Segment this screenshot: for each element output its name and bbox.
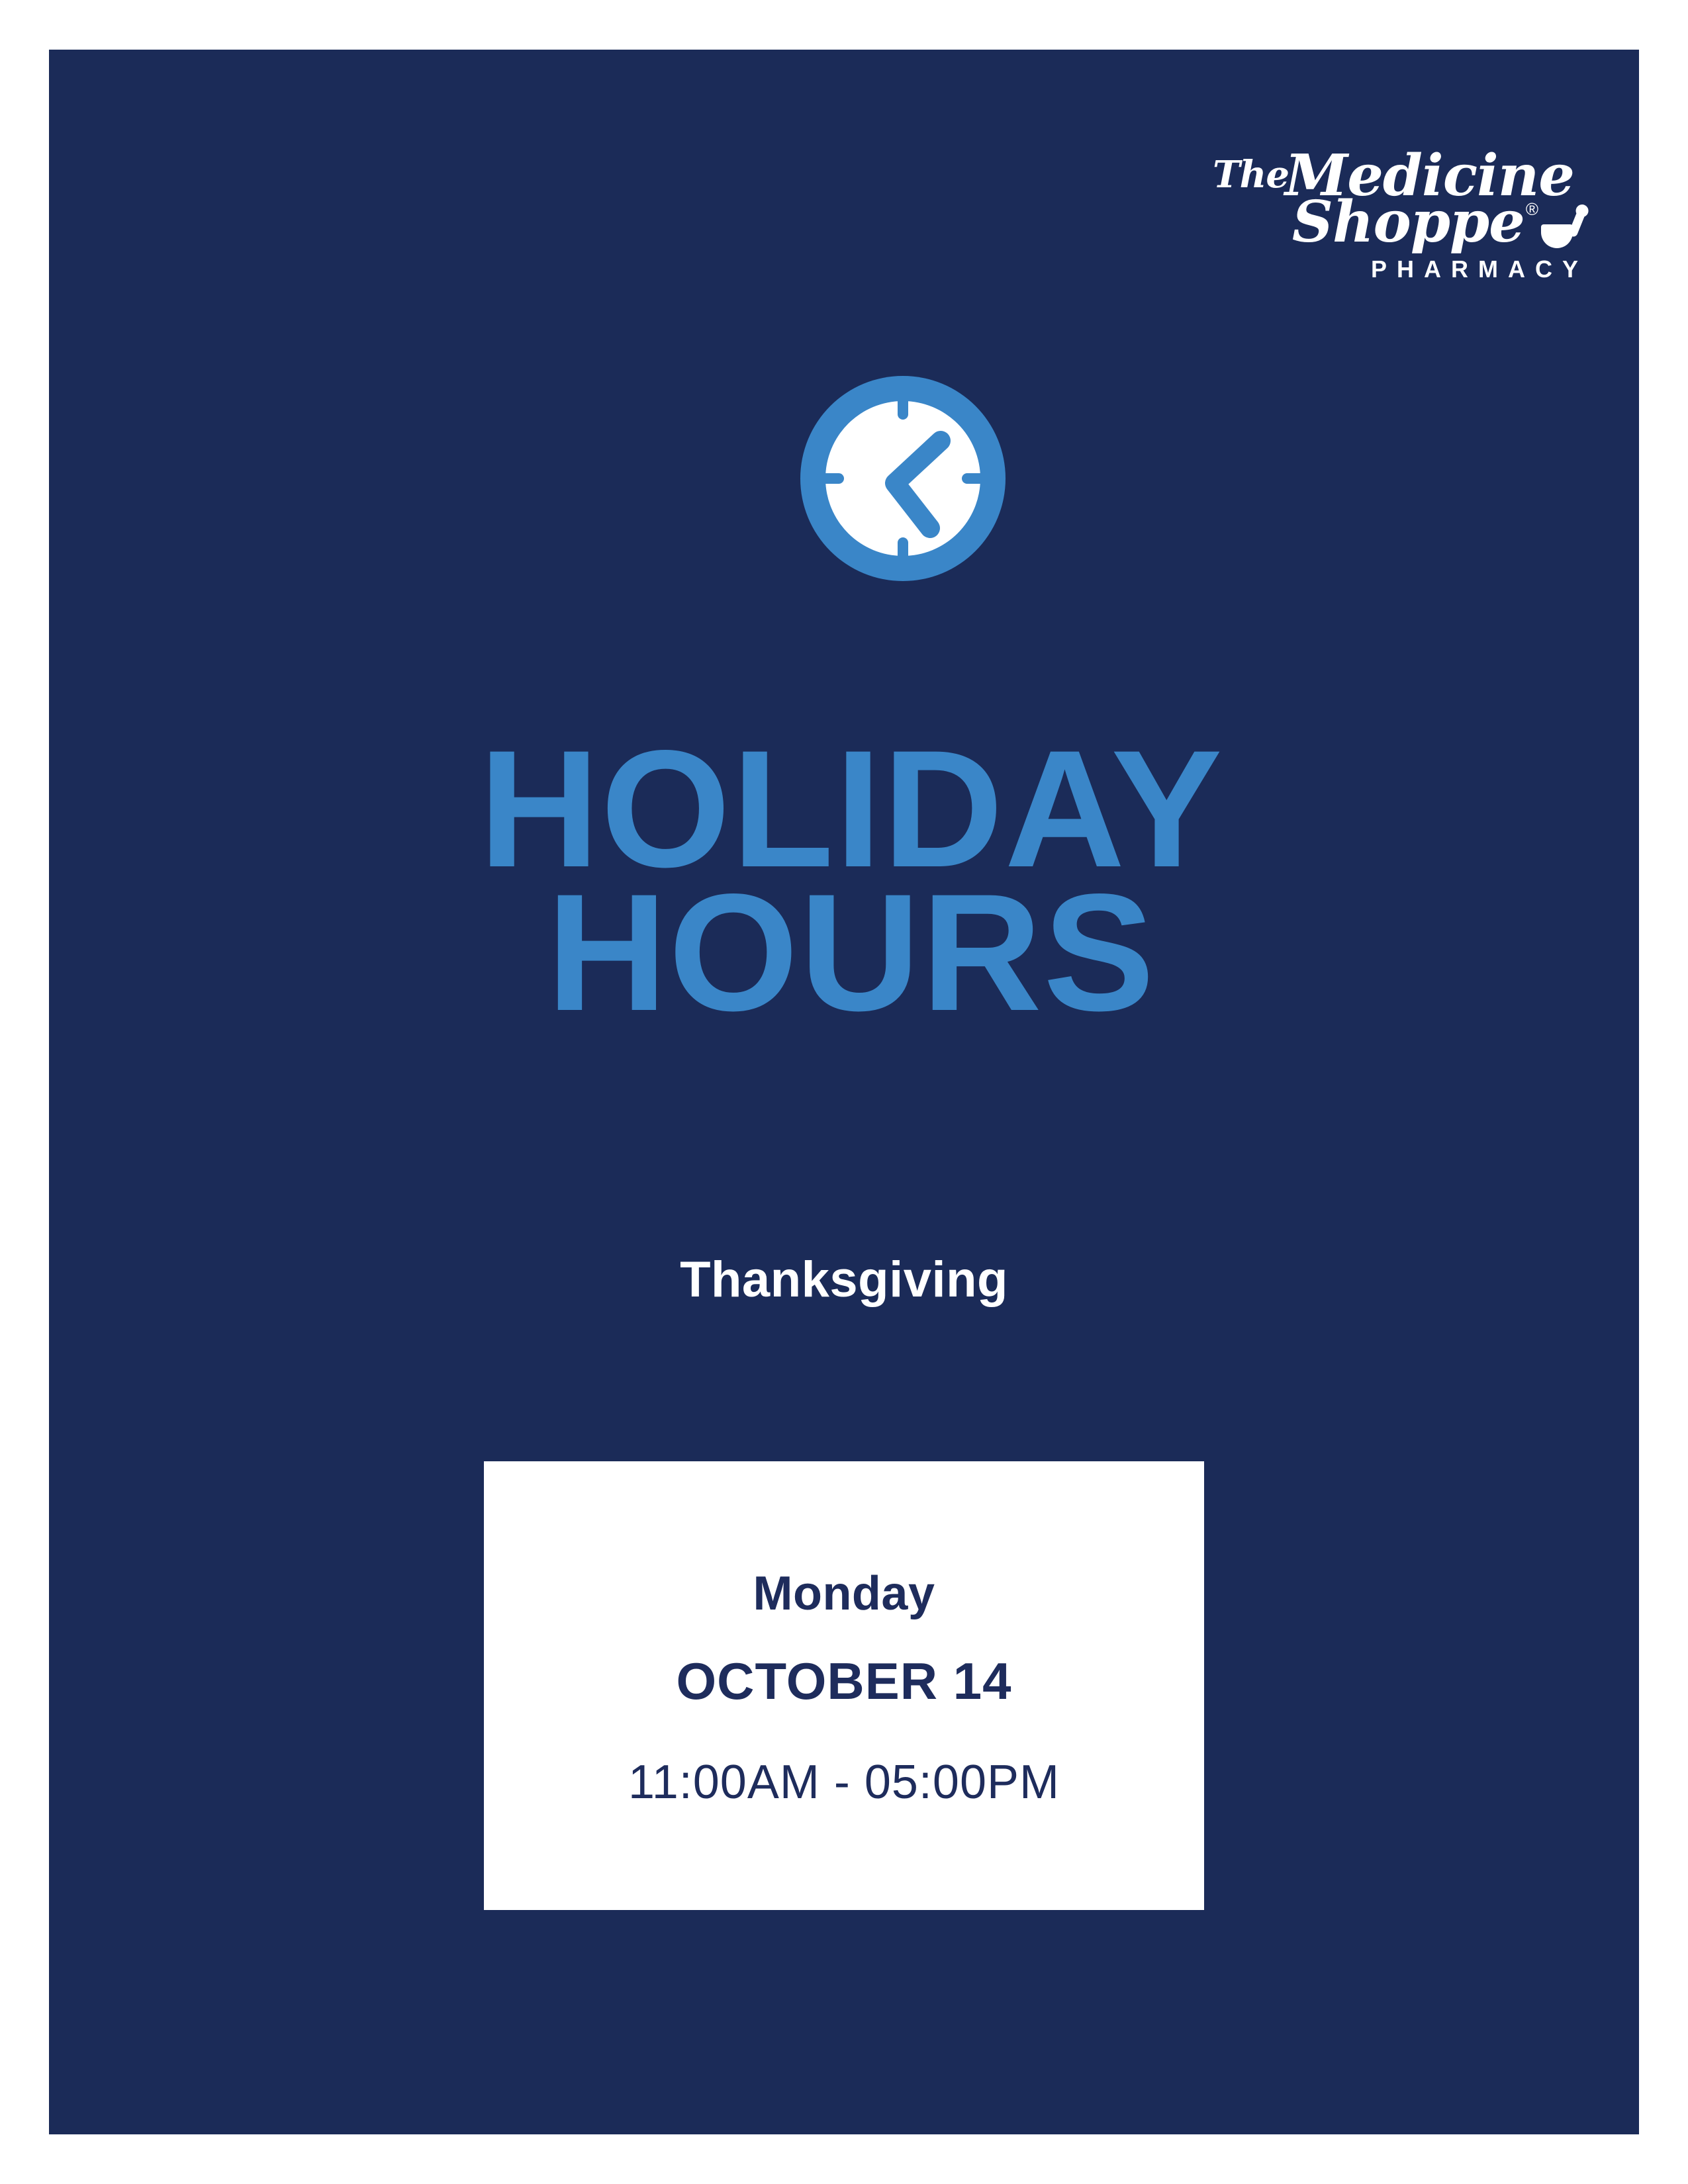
brand-the: The xyxy=(1213,153,1289,197)
flyer-page: TheMedicine Shoppe® PHARMACY HOLIDAY xyxy=(0,0,1688,2184)
brand-shoppe: Shoppe xyxy=(1292,189,1524,255)
card-day: Monday xyxy=(753,1567,935,1621)
registered-mark-icon: ® xyxy=(1526,199,1538,219)
brand-line-shoppe: Shoppe® xyxy=(1141,194,1577,251)
occasion-label: Thanksgiving xyxy=(49,1251,1639,1308)
card-time-range: 11:00AM - 05:00PM xyxy=(628,1755,1060,1809)
page-title: HOLIDAY HOURS xyxy=(49,738,1639,1024)
hours-card: Monday OCTOBER 14 11:00AM - 05:00PM xyxy=(484,1461,1204,1910)
mortar-and-pestle-icon xyxy=(1541,210,1577,248)
brand-logo: TheMedicine Shoppe® PHARMACY xyxy=(1141,148,1578,281)
clock-icon xyxy=(800,376,1006,581)
poster-panel: TheMedicine Shoppe® PHARMACY HOLIDAY xyxy=(49,50,1639,2134)
card-date: OCTOBER 14 xyxy=(676,1651,1011,1711)
brand-subtitle: PHARMACY xyxy=(1141,257,1588,281)
headline-line-2: HOURS xyxy=(64,882,1639,1025)
